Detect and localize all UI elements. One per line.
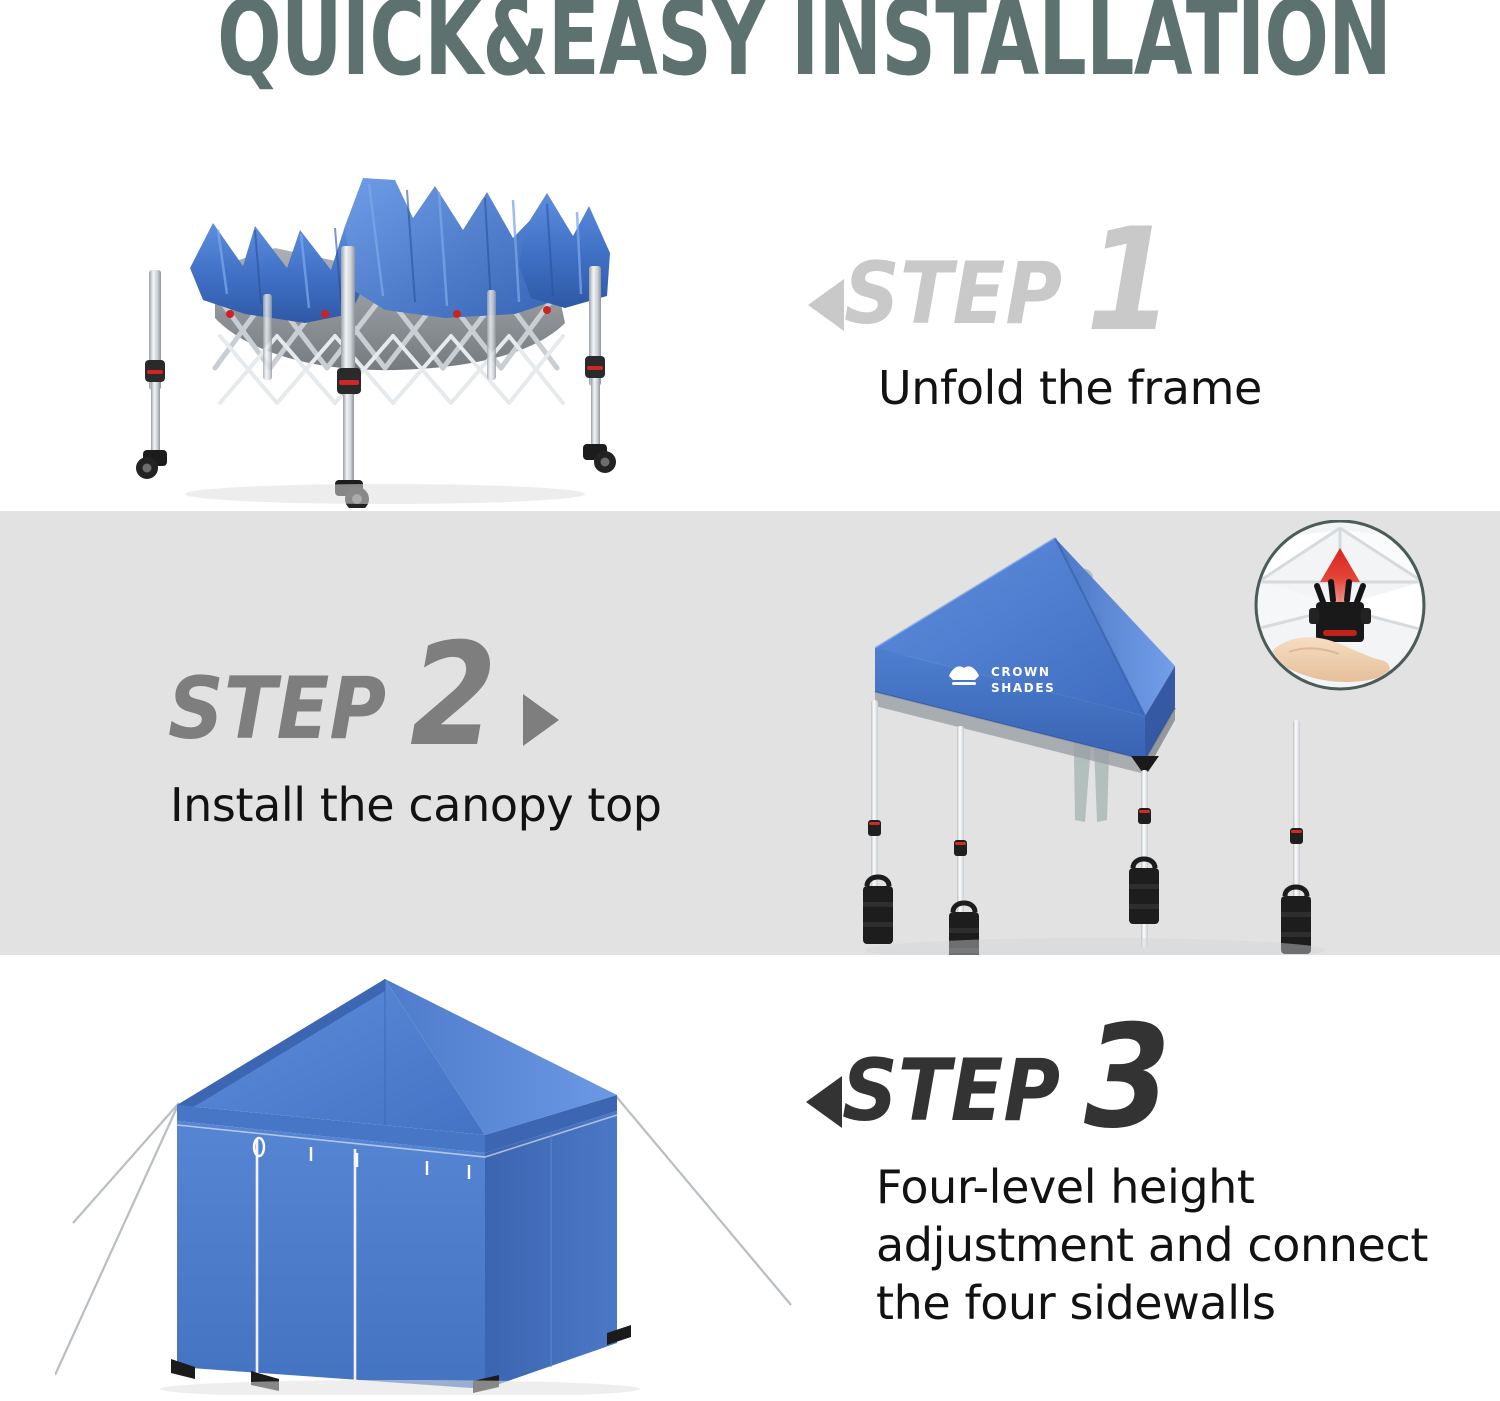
step-1-text-block: STEP 1 Unfold the frame	[808, 225, 1262, 417]
step-2-heading: STEP 2	[168, 640, 662, 752]
step-1-label: STEP	[844, 251, 1062, 337]
illustration-canopy-with-weight-bags: CROWN SHADES	[845, 520, 1495, 955]
step-1-heading: STEP 1	[808, 225, 1262, 337]
illustration-folded-canopy-frame	[95, 118, 675, 508]
triangle-left-icon	[806, 1076, 842, 1128]
weight-bag	[1129, 859, 1159, 924]
triangle-left-icon	[808, 279, 844, 331]
step-3-description: Four-level height adjustment and connect…	[876, 1158, 1428, 1332]
step-3-heading: STEP 3	[806, 1022, 1428, 1134]
step-1-number: 1	[1086, 225, 1173, 337]
svg-text:CROWN: CROWN	[991, 665, 1051, 679]
step-3-description-line-3: the four sidewalls	[876, 1274, 1428, 1332]
step-2-label: STEP	[168, 666, 386, 752]
step-3-description-line-2: adjustment and connect	[876, 1216, 1428, 1274]
step-3-number: 3	[1084, 1022, 1171, 1134]
step-2-number: 2	[410, 640, 497, 752]
triangle-right-icon	[523, 694, 559, 746]
page-title: QUICK&EASY INSTALLATION	[0, 0, 1500, 96]
step-3-text-block: STEP 3 Four-level height adjustment and …	[806, 1022, 1428, 1332]
page-title-text: QUICK&EASY INSTALLATION	[217, 0, 1391, 90]
weight-bag	[863, 877, 893, 944]
inset-center-hub-detail	[1256, 521, 1424, 689]
step-3-description-line-1: Four-level height	[876, 1158, 1428, 1216]
step-2-description: Install the canopy top	[170, 776, 662, 834]
infographic-page: QUICK&EASY INSTALLATION	[0, 0, 1500, 1401]
step-1-description: Unfold the frame	[878, 359, 1262, 417]
svg-text:SHADES: SHADES	[991, 681, 1055, 695]
step-3-label: STEP	[842, 1048, 1060, 1134]
step-2-text-block: STEP 2 Install the canopy top	[168, 640, 662, 834]
illustration-canopy-with-sidewalls	[55, 975, 795, 1395]
